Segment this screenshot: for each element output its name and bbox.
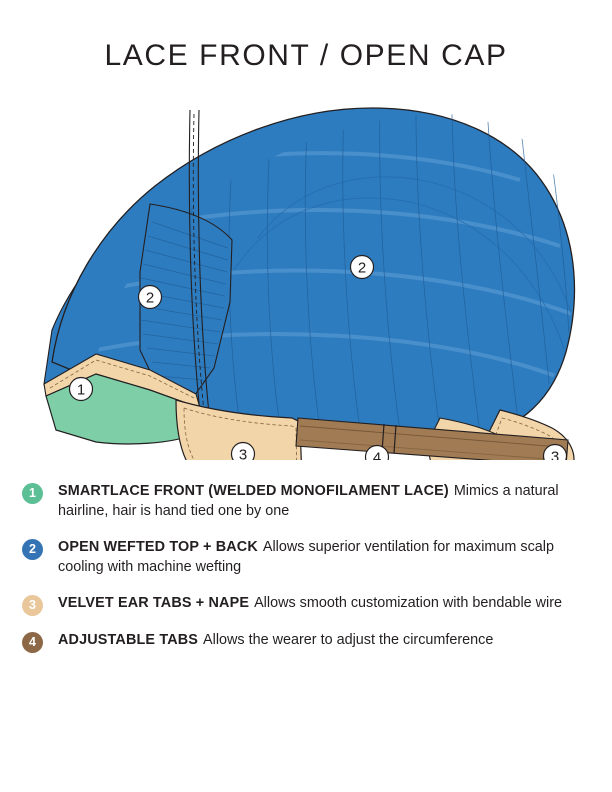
svg-text:3: 3	[551, 449, 559, 461]
svg-text:3: 3	[239, 447, 247, 461]
legend-badge-1: 1	[22, 483, 43, 504]
legend-text-1: SMARTLACE FRONT (WELDED MONOFILAMENT LAC…	[58, 482, 597, 521]
callout-2-side: 2	[139, 286, 162, 309]
legend-text-4: ADJUSTABLE TABSAllows the wearer to adju…	[58, 631, 597, 651]
legend-description-4: Allows the wearer to adjust the circumfe…	[203, 632, 493, 648]
legend-text-3: VELVET EAR TABS + NAPEAllows smooth cust…	[58, 594, 597, 614]
page-root: LACE FRONT / OPEN CAP	[0, 0, 612, 792]
svg-text:4: 4	[373, 450, 381, 461]
legend-term-2: OPEN WEFTED TOP + BACK	[58, 539, 258, 555]
callout-2-top: 2	[351, 256, 374, 279]
legend-description-3: Allows smooth customization with bendabl…	[254, 595, 562, 611]
cap-diagram: 1 2 2 3 4	[0, 62, 612, 460]
legend-term-1: SMARTLACE FRONT (WELDED MONOFILAMENT LAC…	[58, 483, 449, 499]
svg-text:1: 1	[77, 382, 85, 399]
legend-item-1: 1 SMARTLACE FRONT (WELDED MONOFILAMENT L…	[22, 482, 597, 521]
legend-text-2: OPEN WEFTED TOP + BACKAllows superior ve…	[58, 538, 597, 577]
callout-3-left: 3	[232, 443, 255, 461]
legend-badge-4: 4	[22, 632, 43, 653]
legend-term-4: ADJUSTABLE TABS	[58, 632, 198, 648]
svg-text:2: 2	[358, 260, 366, 277]
legend-badge-2: 2	[22, 539, 43, 560]
svg-text:2: 2	[146, 290, 154, 307]
legend: 1 SMARTLACE FRONT (WELDED MONOFILAMENT L…	[22, 482, 597, 650]
legend-item-4: 4 ADJUSTABLE TABSAllows the wearer to ad…	[22, 631, 597, 651]
legend-badge-3: 3	[22, 595, 43, 616]
legend-item-3: 3 VELVET EAR TABS + NAPEAllows smooth cu…	[22, 594, 597, 614]
legend-item-2: 2 OPEN WEFTED TOP + BACKAllows superior …	[22, 538, 597, 577]
legend-term-3: VELVET EAR TABS + NAPE	[58, 595, 249, 611]
callout-1: 1	[70, 378, 93, 401]
